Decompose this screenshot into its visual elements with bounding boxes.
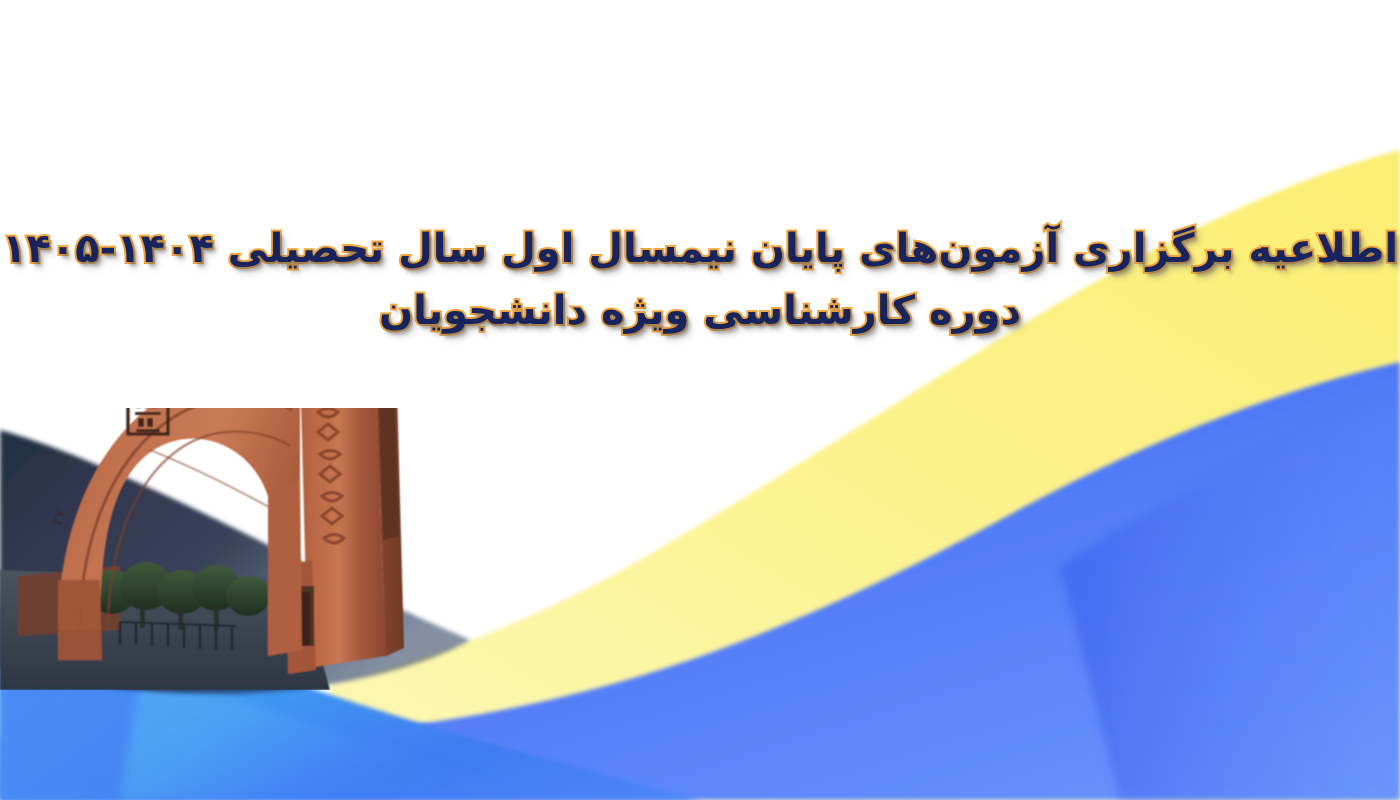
arch-pier-right (268, 480, 302, 656)
gate-engraved-text: SHAHID BEHESHTI UNIVERSITY (0, 330, 69, 528)
announcement-banner: SHAHID BEHESHTI UNIVERSITY (0, 0, 1400, 800)
university-gate-photo: SHAHID BEHESHTI UNIVERSITY (0, 330, 470, 690)
tower-cap (292, 338, 396, 363)
arch-pier-left (58, 580, 102, 660)
